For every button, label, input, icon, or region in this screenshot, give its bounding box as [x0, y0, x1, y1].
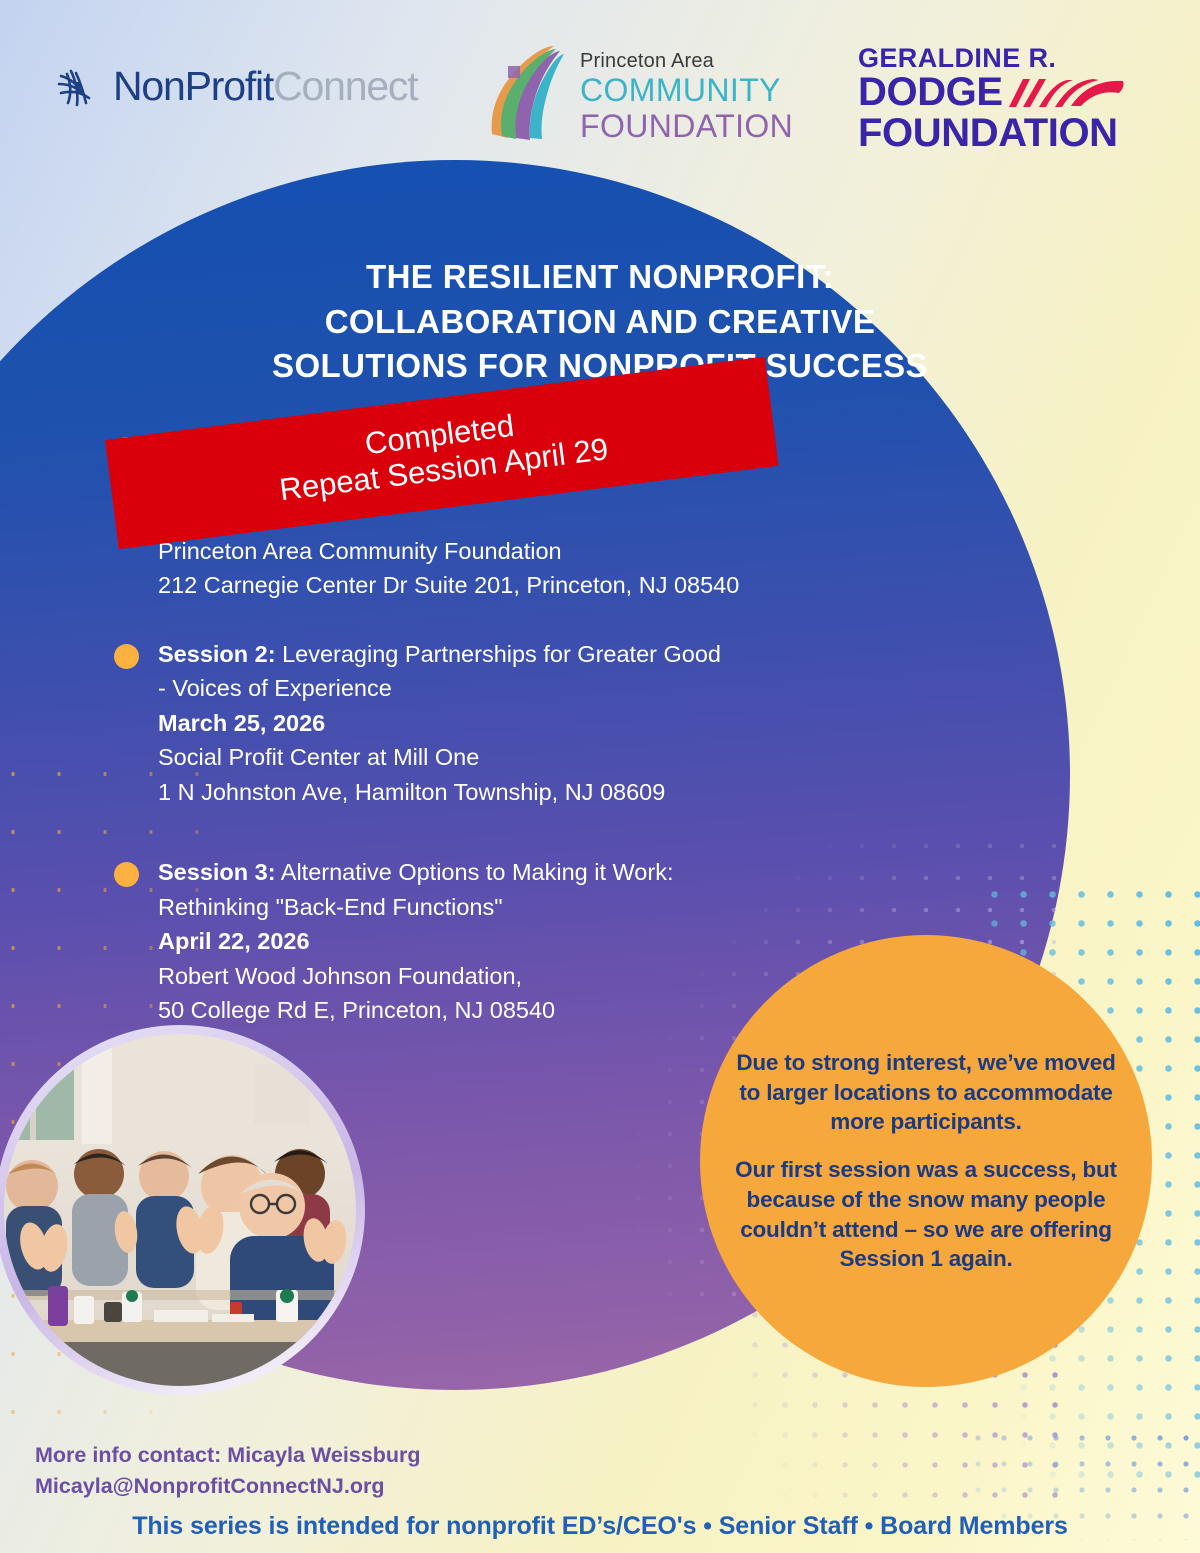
dodge-swoosh-icon	[1007, 73, 1127, 113]
session-item-2: Session 2: Leveraging Partnerships for G…	[110, 637, 940, 810]
session-1-address: 212 Carnegie Center Dr Suite 201, Prince…	[158, 568, 940, 603]
nonprofitconnect-mark-icon	[55, 62, 103, 110]
logo-text-nonprofit: NonProfit	[113, 63, 273, 109]
audience-tagline: This series is intended for nonprofit ED…	[0, 1512, 1200, 1541]
logo-text-princeton-area: Princeton Area	[580, 50, 793, 73]
title-line-2: COLLABORATION AND CREATIVE	[110, 300, 1090, 345]
logo-text-geraldine-r: GERALDINE R.	[858, 44, 1127, 72]
callout-spacer	[734, 1137, 1118, 1155]
logo-text-community: COMMUNITY	[580, 73, 793, 109]
session-1-venue: Princeton Area Community Foundation	[158, 534, 940, 569]
logo-text-foundation: FOUNDATION	[580, 109, 793, 145]
session-3-date: April 22, 2026	[158, 924, 940, 959]
session-3-label: Session 3:	[158, 859, 276, 885]
session-2-date: March 25, 2026	[158, 706, 940, 741]
title-line-1: THE RESILIENT NONPROFIT:	[110, 255, 1090, 300]
bullet-dot-icon	[114, 862, 139, 887]
logo-bar: NonProfitConnect Princeton Area COMMUNIT…	[0, 0, 1200, 165]
callout-circle: Due to strong interest, we’ve moved to l…	[700, 935, 1152, 1387]
session-2-address: 1 N Johnston Ave, Hamilton Township, NJ …	[158, 775, 940, 810]
logo-text-connect: Connect	[273, 63, 417, 109]
callout-paragraph-1: Due to strong interest, we’ve moved to l…	[736, 1050, 1115, 1134]
callout-paragraph-2: Our first session was a success, but bec…	[735, 1157, 1117, 1271]
session-2-subheading: - Voices of Experience	[158, 671, 940, 706]
nonprofitconnect-wordmark: NonProfitConnect	[113, 63, 417, 110]
session-3-subheading: Rethinking "Back-End Functions"	[158, 890, 940, 925]
community-foundation-ribbon-icon	[482, 42, 568, 144]
logo-princeton-area-community-foundation: Princeton Area COMMUNITY FOUNDATION	[482, 42, 793, 145]
contact-name: More info contact: Micayla Weissburg	[35, 1440, 420, 1471]
community-foundation-wordmark: Princeton Area COMMUNITY FOUNDATION	[580, 42, 793, 145]
contact-email[interactable]: Micayla@NonprofitConnectNJ.org	[35, 1471, 420, 1502]
logo-dodge-foundation: GERALDINE R. DODGE FOUNDATION	[858, 44, 1127, 154]
session-2-heading: Leveraging Partnerships for Greater Good	[276, 641, 721, 667]
logo-nonprofitconnect: NonProfitConnect	[55, 62, 417, 110]
workshop-photo	[4, 1034, 356, 1386]
flyer-title: THE RESILIENT NONPROFIT: COLLABORATION A…	[110, 255, 1090, 389]
session-2-label: Session 2:	[158, 641, 276, 667]
session-2-venue: Social Profit Center at Mill One	[158, 740, 940, 775]
contact-info: More info contact: Micayla Weissburg Mic…	[35, 1440, 420, 1502]
logo-text-dodge-foundation: FOUNDATION	[858, 113, 1127, 154]
photo-frame	[0, 1025, 365, 1395]
session-3-heading: Alternative Options to Making it Work:	[276, 859, 674, 885]
bullet-dot-icon	[114, 644, 139, 669]
logo-text-dodge: DODGE	[858, 72, 1003, 113]
